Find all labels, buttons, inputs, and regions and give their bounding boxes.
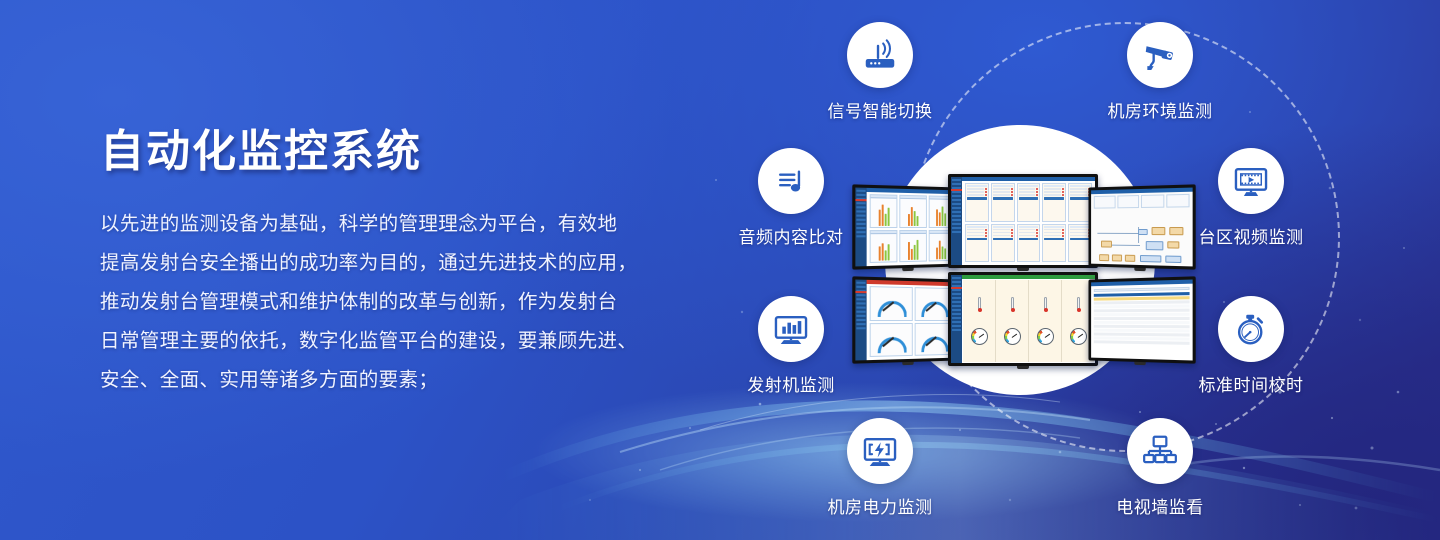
feature-label: 信号智能切换 — [795, 97, 965, 122]
feature-icon-disc[interactable] — [1127, 22, 1193, 88]
feature-icon-disc[interactable] — [758, 296, 824, 362]
device-card-grid — [963, 181, 1094, 264]
router-signal-icon — [861, 36, 899, 74]
desc-line-5: 安全、全面、实用等诸多方面的要素； — [100, 361, 692, 400]
feature-diagram: 信号智能切换 机房环境监测 — [700, 0, 1440, 540]
feature-icon-disc[interactable] — [1218, 148, 1284, 214]
feature-icon-disc[interactable] — [1127, 418, 1193, 484]
screen-sidebar — [951, 275, 962, 363]
feature-item-room-environment[interactable]: 机房环境监测 — [1075, 22, 1245, 122]
feature-label: 台区视频监测 — [1166, 223, 1336, 248]
screen-titlebar — [962, 275, 1095, 279]
screen-sidebar — [951, 177, 962, 265]
feature-icon-disc[interactable] — [847, 22, 913, 88]
power-monitor-icon — [861, 432, 899, 470]
bar-chart-monitor-icon — [772, 310, 810, 348]
screen-bottom-center — [948, 272, 1098, 366]
bar-chart-grid — [868, 192, 956, 265]
desc-line-2: 提高发射台安全播出的成功率为目的，通过先进技术的应用， — [100, 244, 692, 283]
thermometer-gauge-panel — [963, 280, 1094, 362]
banner-hero: 自动化监控系统 以先进的监测设备为基础，科学的管理理念为平台，有效地 提高发射台… — [0, 0, 1440, 540]
hero-text-block: 自动化监控系统 以先进的监测设备为基础，科学的管理理念为平台，有效地 提高发射台… — [100, 126, 700, 400]
video-monitor-icon — [1232, 162, 1270, 200]
feature-item-signal-switch[interactable]: 信号智能切换 — [795, 22, 965, 122]
feature-label: 机房电力监测 — [795, 493, 965, 518]
desc-line-1: 以先进的监测设备为基础，科学的管理理念为平台，有效地 — [100, 205, 692, 244]
feature-item-tv-wall[interactable]: 电视墙监看 — [1075, 418, 1245, 518]
feature-item-area-video[interactable]: 台区视频监测 — [1166, 148, 1336, 248]
audio-note-icon — [773, 163, 809, 199]
feature-icon-disc[interactable] — [847, 418, 913, 484]
page-title: 自动化监控系统 — [100, 126, 700, 179]
feature-label: 发射机监测 — [706, 371, 876, 396]
desc-line-3: 推动发射台管理模式和维护体制的改革与创新，作为发射台 — [100, 283, 692, 322]
feature-label: 音频内容比对 — [706, 223, 876, 248]
hero-description: 以先进的监测设备为基础，科学的管理理念为平台，有效地 提高发射台安全播出的成功率… — [100, 205, 692, 400]
feature-item-audio-compare[interactable]: 音频内容比对 — [706, 148, 876, 248]
stopwatch-icon — [1232, 310, 1270, 348]
feature-icon-disc[interactable] — [1218, 296, 1284, 362]
feature-item-transmitter-monitor[interactable]: 发射机监测 — [706, 296, 876, 396]
video-wall — [852, 168, 1192, 368]
tv-wall-hierarchy-icon — [1141, 432, 1179, 470]
desc-line-4: 日常管理主要的依托，数字化监管平台的建设，要兼顾先进、 — [100, 322, 692, 361]
feature-item-time-sync[interactable]: 标准时间校时 — [1166, 296, 1336, 396]
arc-meter-grid — [868, 284, 956, 359]
feature-icon-disc[interactable] — [758, 148, 824, 214]
feature-item-room-power[interactable]: 机房电力监测 — [795, 418, 965, 518]
security-camera-icon — [1141, 36, 1179, 74]
feature-label: 机房环境监测 — [1075, 97, 1245, 122]
feature-label: 标准时间校时 — [1166, 371, 1336, 396]
feature-label: 电视墙监看 — [1075, 493, 1245, 518]
screen-top-center — [948, 174, 1098, 268]
